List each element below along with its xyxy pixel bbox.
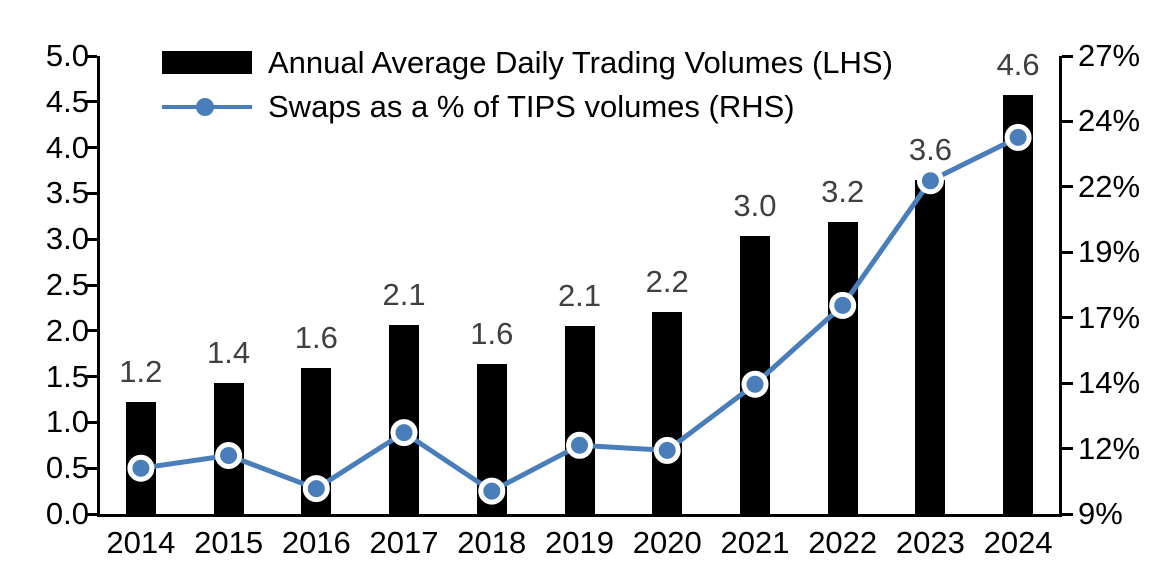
y-axis-right-tick <box>1062 382 1073 385</box>
bar-value-label: 3.0 <box>733 190 776 221</box>
y-axis-left-tick-label: 5.0 <box>46 40 89 71</box>
y-axis-right-tick <box>1062 316 1073 319</box>
legend-item-line[interactable]: Swaps as a % of TIPS volumes (RHS) <box>162 84 893 128</box>
x-axis-category-label: 2018 <box>457 527 526 558</box>
y-axis-right-tick <box>1062 120 1073 123</box>
line-marker <box>1007 126 1029 148</box>
y-axis-right-tick <box>1062 447 1073 450</box>
line-marker <box>481 480 503 502</box>
y-axis-right-tick <box>1062 185 1073 188</box>
line-marker <box>305 478 327 500</box>
y-axis-left-tick-label: 4.0 <box>46 132 89 163</box>
bar-value-label: 1.6 <box>295 322 338 353</box>
y-axis-left-tick-label: 3.0 <box>46 223 89 254</box>
legend-label-line: Swaps as a % of TIPS volumes (RHS) <box>268 91 795 122</box>
y-axis-left-tick-label: 2.0 <box>46 315 89 346</box>
line-marker <box>569 434 591 456</box>
y-axis-left-tick-label: 1.0 <box>46 406 89 437</box>
y-axis-left-tick-label: 3.5 <box>46 177 89 208</box>
x-axis-category-label: 2021 <box>720 527 789 558</box>
line-marker <box>656 439 678 461</box>
y-axis-right-tick-label: 17% <box>1078 302 1140 333</box>
legend-bar-swatch-icon <box>162 51 252 74</box>
x-axis-category-label: 2014 <box>106 527 175 558</box>
line-marker <box>393 422 415 444</box>
y-axis-right-tick-label: 12% <box>1078 433 1140 464</box>
x-axis-category-label: 2015 <box>194 527 263 558</box>
line-marker <box>218 445 240 467</box>
y-axis-right-tick-label: 27% <box>1078 40 1140 71</box>
y-axis-left-tick-label: 4.5 <box>46 86 89 117</box>
bar-value-label: 2.1 <box>382 279 425 310</box>
bar-value-label: 1.6 <box>470 318 513 349</box>
line-marker <box>832 294 854 316</box>
x-axis-category-label: 2017 <box>370 527 439 558</box>
x-axis-category-label: 2024 <box>984 527 1053 558</box>
bar-value-label: 3.2 <box>821 176 864 207</box>
y-axis-left-tick-label: 0.5 <box>46 452 89 483</box>
y-axis-right-tick-label: 19% <box>1078 236 1140 267</box>
x-axis-category-label: 2020 <box>633 527 702 558</box>
bar-value-label: 3.6 <box>909 134 952 165</box>
line-marker <box>744 373 766 395</box>
y-axis-right-tick-label: 9% <box>1078 498 1123 529</box>
y-axis-left-tick-label: 0.0 <box>46 498 89 529</box>
y-axis-right-tick-label: 22% <box>1078 171 1140 202</box>
y-axis-right-tick-label: 14% <box>1078 367 1140 398</box>
chart-container: 0.00.51.01.52.02.53.03.54.04.55.0 9%12%1… <box>0 0 1152 584</box>
bar-value-label: 2.1 <box>558 280 601 311</box>
legend-label-bars: Annual Average Daily Trading Volumes (LH… <box>268 47 893 78</box>
y-axis-right-tick <box>1062 251 1073 254</box>
x-axis-category-label: 2023 <box>896 527 965 558</box>
line-marker <box>130 457 152 479</box>
legend-item-bars[interactable]: Annual Average Daily Trading Volumes (LH… <box>162 40 893 84</box>
line-marker <box>919 170 941 192</box>
chart-legend: Annual Average Daily Trading Volumes (LH… <box>162 40 893 128</box>
bar-value-label: 1.2 <box>119 356 162 387</box>
x-axis-line <box>97 514 1062 517</box>
y-axis-right-tick-label: 24% <box>1078 105 1140 136</box>
x-axis-category-label: 2016 <box>282 527 351 558</box>
bar-value-label: 4.6 <box>997 49 1040 80</box>
x-axis-category-label: 2019 <box>545 527 614 558</box>
x-axis-category-label: 2022 <box>808 527 877 558</box>
legend-line-marker-icon <box>162 95 252 118</box>
y-axis-left-tick-label: 1.5 <box>46 361 89 392</box>
y-axis-right-tick <box>1062 513 1073 516</box>
y-axis-right-tick <box>1062 55 1073 58</box>
bar-value-label: 2.2 <box>646 266 689 297</box>
bar-value-label: 1.4 <box>207 337 250 368</box>
y-axis-left-tick-label: 2.5 <box>46 269 89 300</box>
